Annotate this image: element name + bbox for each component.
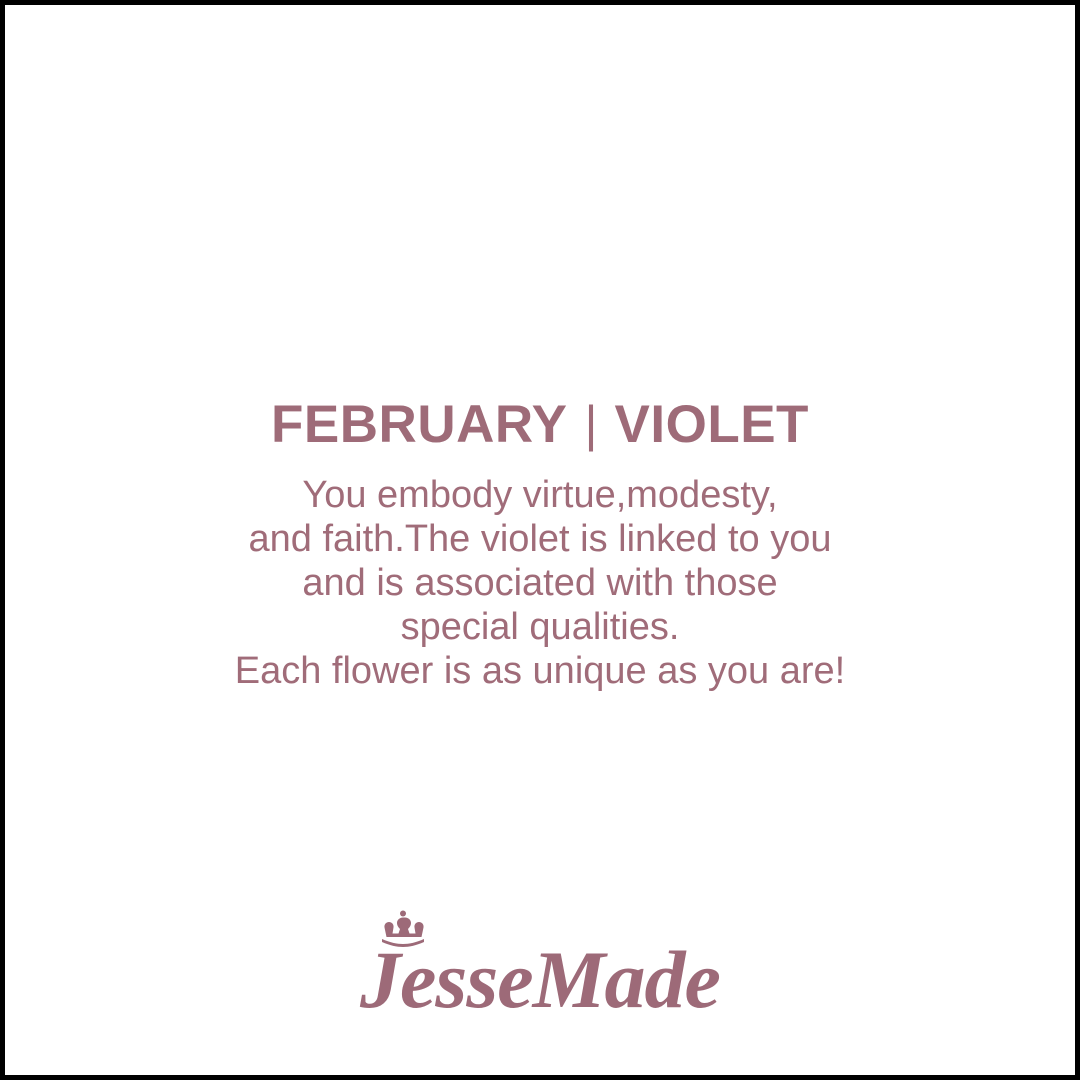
logo-inner: JesseMade	[360, 905, 720, 1021]
title-flower: VIOLET	[615, 395, 809, 454]
page-title: FEBRUARY|VIOLET	[5, 398, 1075, 451]
body-line: Each flower is as unique as you are!	[5, 649, 1075, 693]
brand-logo: JesseMade	[5, 905, 1075, 1021]
body-line: You embody virtue,modesty,	[5, 473, 1075, 517]
body-line: and is associated with those	[5, 561, 1075, 605]
body-paragraph: You embody virtue,modesty, and faith.The…	[5, 473, 1075, 693]
title-month: FEBRUARY	[271, 395, 567, 454]
title-separator: |	[568, 396, 615, 452]
crown-icon	[375, 909, 431, 949]
body-line: and faith.The violet is linked to you	[5, 517, 1075, 561]
body-line: special qualities.	[5, 605, 1075, 649]
card-canvas: FEBRUARY|VIOLET You embody virtue,modest…	[5, 5, 1075, 1075]
